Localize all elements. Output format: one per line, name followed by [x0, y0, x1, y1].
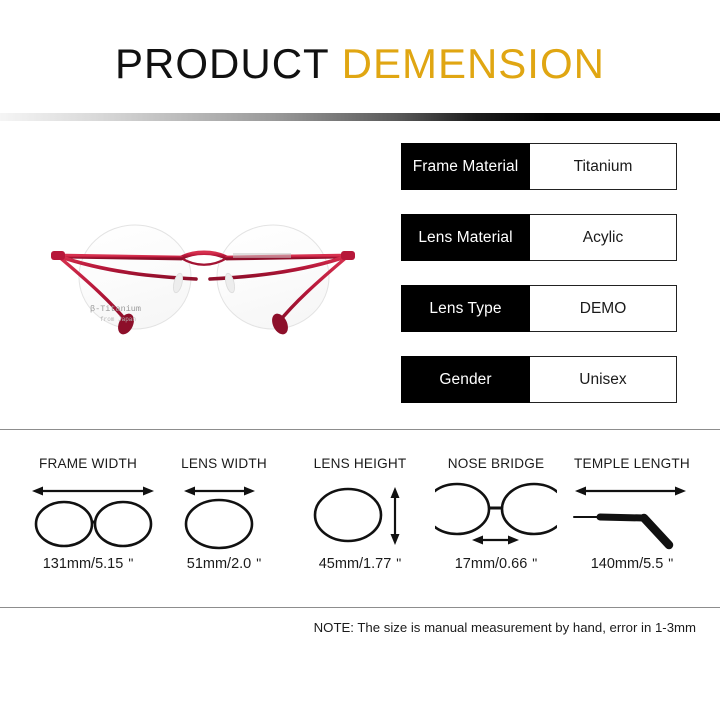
section-divider-bottom — [0, 607, 720, 608]
header-gradient-fade — [0, 121, 720, 131]
lens-engraving-line1: β-Titanium — [90, 304, 141, 314]
measurement-value: 131mm/5.15" — [43, 555, 134, 572]
lens-engraving-line2: from Japan — [100, 316, 136, 323]
lens-height-icon — [304, 475, 416, 553]
product-dimension-infographic: PRODUCT DEMENSION — [0, 0, 720, 720]
spec-value-lens-material: Acylic — [530, 214, 677, 261]
title-part-demension: DEMENSION — [342, 40, 605, 87]
spec-label-gender: Gender — [401, 356, 530, 403]
measurements-section: FRAME WIDTH 131mm/5.15" — [0, 430, 720, 607]
measurement-title: LENS WIDTH — [181, 456, 267, 471]
eyeglasses-illustration: β-Titanium from Japan — [18, 211, 386, 351]
measurement-title: NOSE BRIDGE — [448, 456, 545, 471]
page-title: PRODUCT DEMENSION — [115, 43, 605, 85]
header: PRODUCT DEMENSION — [0, 0, 720, 113]
measurement-lens-height: LENS HEIGHT 45mm/1.77" — [292, 430, 428, 572]
spec-value-gender: Unisex — [530, 356, 677, 403]
measurement-frame-width: FRAME WIDTH 131mm/5.15" — [20, 430, 156, 572]
footer-note: NOTE: The size is manual measurement by … — [0, 620, 720, 635]
spec-table: Frame Material Titanium Lens Material Ac… — [401, 143, 677, 403]
spec-value-lens-type: DEMO — [530, 285, 677, 332]
spec-label-lens-material: Lens Material — [401, 214, 530, 261]
nose-bridge-icon — [435, 475, 557, 553]
measurement-lens-width: LENS WIDTH 51mm/2.0" — [156, 430, 292, 572]
spec-label-frame-material: Frame Material — [401, 143, 530, 190]
spec-value-frame-material: Titanium — [530, 143, 677, 190]
measurement-title: LENS HEIGHT — [314, 456, 407, 471]
lens-width-icon — [169, 475, 279, 553]
table-row: Frame Material Titanium — [401, 143, 677, 190]
frame-width-icon — [22, 475, 154, 553]
measurement-temple-length: TEMPLE LENGTH 140mm/5.5" — [564, 430, 700, 572]
spec-label-lens-type: Lens Type — [401, 285, 530, 332]
product-section: β-Titanium from Japan Frame Material Tit… — [0, 131, 720, 429]
table-row: Lens Material Acylic — [401, 214, 677, 261]
measurement-nose-bridge: NOSE BRIDGE 17mm/0.66" — [428, 430, 564, 572]
title-part-product: PRODUCT — [115, 40, 342, 87]
measurement-title: TEMPLE LENGTH — [574, 456, 690, 471]
measurement-value: 51mm/2.0" — [187, 555, 261, 572]
measurement-value: 45mm/1.77" — [319, 555, 402, 572]
table-row: Gender Unisex — [401, 356, 677, 403]
measurement-title: FRAME WIDTH — [39, 456, 137, 471]
product-photo: β-Titanium from Japan — [18, 211, 386, 351]
measurement-value: 17mm/0.66" — [455, 555, 538, 572]
header-gradient-divider — [0, 113, 720, 121]
temple-length-icon — [566, 475, 698, 553]
measurement-value: 140mm/5.5" — [591, 555, 674, 572]
table-row: Lens Type DEMO — [401, 285, 677, 332]
